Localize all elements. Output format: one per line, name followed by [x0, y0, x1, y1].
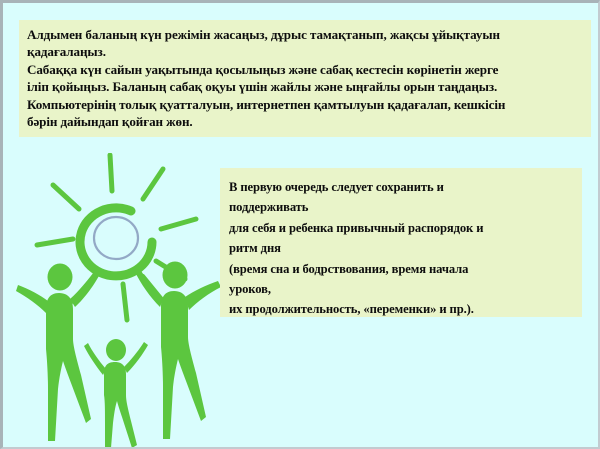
sun-and-family-illustration: [13, 153, 228, 449]
russian-line-5: (время сна и бодрствования, время начала: [229, 259, 574, 279]
figure-body: [104, 362, 137, 448]
russian-line-3: для себя и ребенка привычный распорядок …: [229, 218, 574, 238]
figure-adult-right: [135, 262, 221, 440]
sun-ray-top-left: [53, 185, 79, 209]
figure-body: [46, 293, 91, 441]
figure-arm-left: [16, 285, 48, 313]
figure-body: [161, 291, 206, 439]
figure-arm-left: [135, 269, 163, 307]
sun-ray-left: [37, 239, 73, 245]
russian-line-2: поддерживать: [229, 197, 574, 217]
figure-arm-right: [124, 342, 148, 373]
sun-ray-top-right: [143, 169, 163, 199]
presentation-slide: Алдымен баланың күн режімін жасаңыз, дұр…: [0, 0, 600, 449]
figure-head: [106, 339, 126, 361]
kazakh-line-3: Сабаққа күн сайын уақытында қосылыңыз жә…: [27, 61, 583, 78]
sun-ray-top: [110, 155, 112, 191]
kazakh-line-4: іліп қойыңыз. Баланың сабақ оқуы үшін жа…: [27, 78, 583, 95]
russian-line-6: уроков,: [229, 279, 574, 299]
russian-text-box: В первую очередь следует сохранить и под…: [220, 168, 582, 317]
sun-inner-ring: [94, 217, 138, 259]
figures-group: [16, 262, 221, 449]
sun-ray-bottom: [123, 284, 127, 320]
figure-head: [163, 262, 188, 289]
kazakh-line-5: Компьютерінің толық қуатталуын, интернет…: [27, 96, 583, 113]
figure-arm-right: [70, 269, 101, 307]
kazakh-text-box: Алдымен баланың күн режімін жасаңыз, дұр…: [19, 20, 591, 137]
sun-outer-ring: [80, 208, 152, 276]
figure-child-center: [84, 339, 148, 448]
figure-arm-right: [185, 281, 221, 310]
figure-arm-left: [84, 343, 106, 375]
kazakh-line-1: Алдымен баланың күн режімін жасаңыз, дұр…: [27, 26, 583, 43]
kazakh-line-6: бәрін дайындап қойған жөн.: [27, 113, 583, 130]
russian-line-7: их продолжительность, «переменки» и пр.)…: [229, 299, 574, 319]
figure-head: [48, 264, 73, 291]
family-illustration-svg: [13, 153, 228, 449]
kazakh-line-2: қадағалаңыз.: [27, 43, 583, 60]
russian-line-4: ритм дня: [229, 238, 574, 258]
sun-ray-right: [161, 219, 196, 229]
russian-line-1: В первую очередь следует сохранить и: [229, 177, 574, 197]
